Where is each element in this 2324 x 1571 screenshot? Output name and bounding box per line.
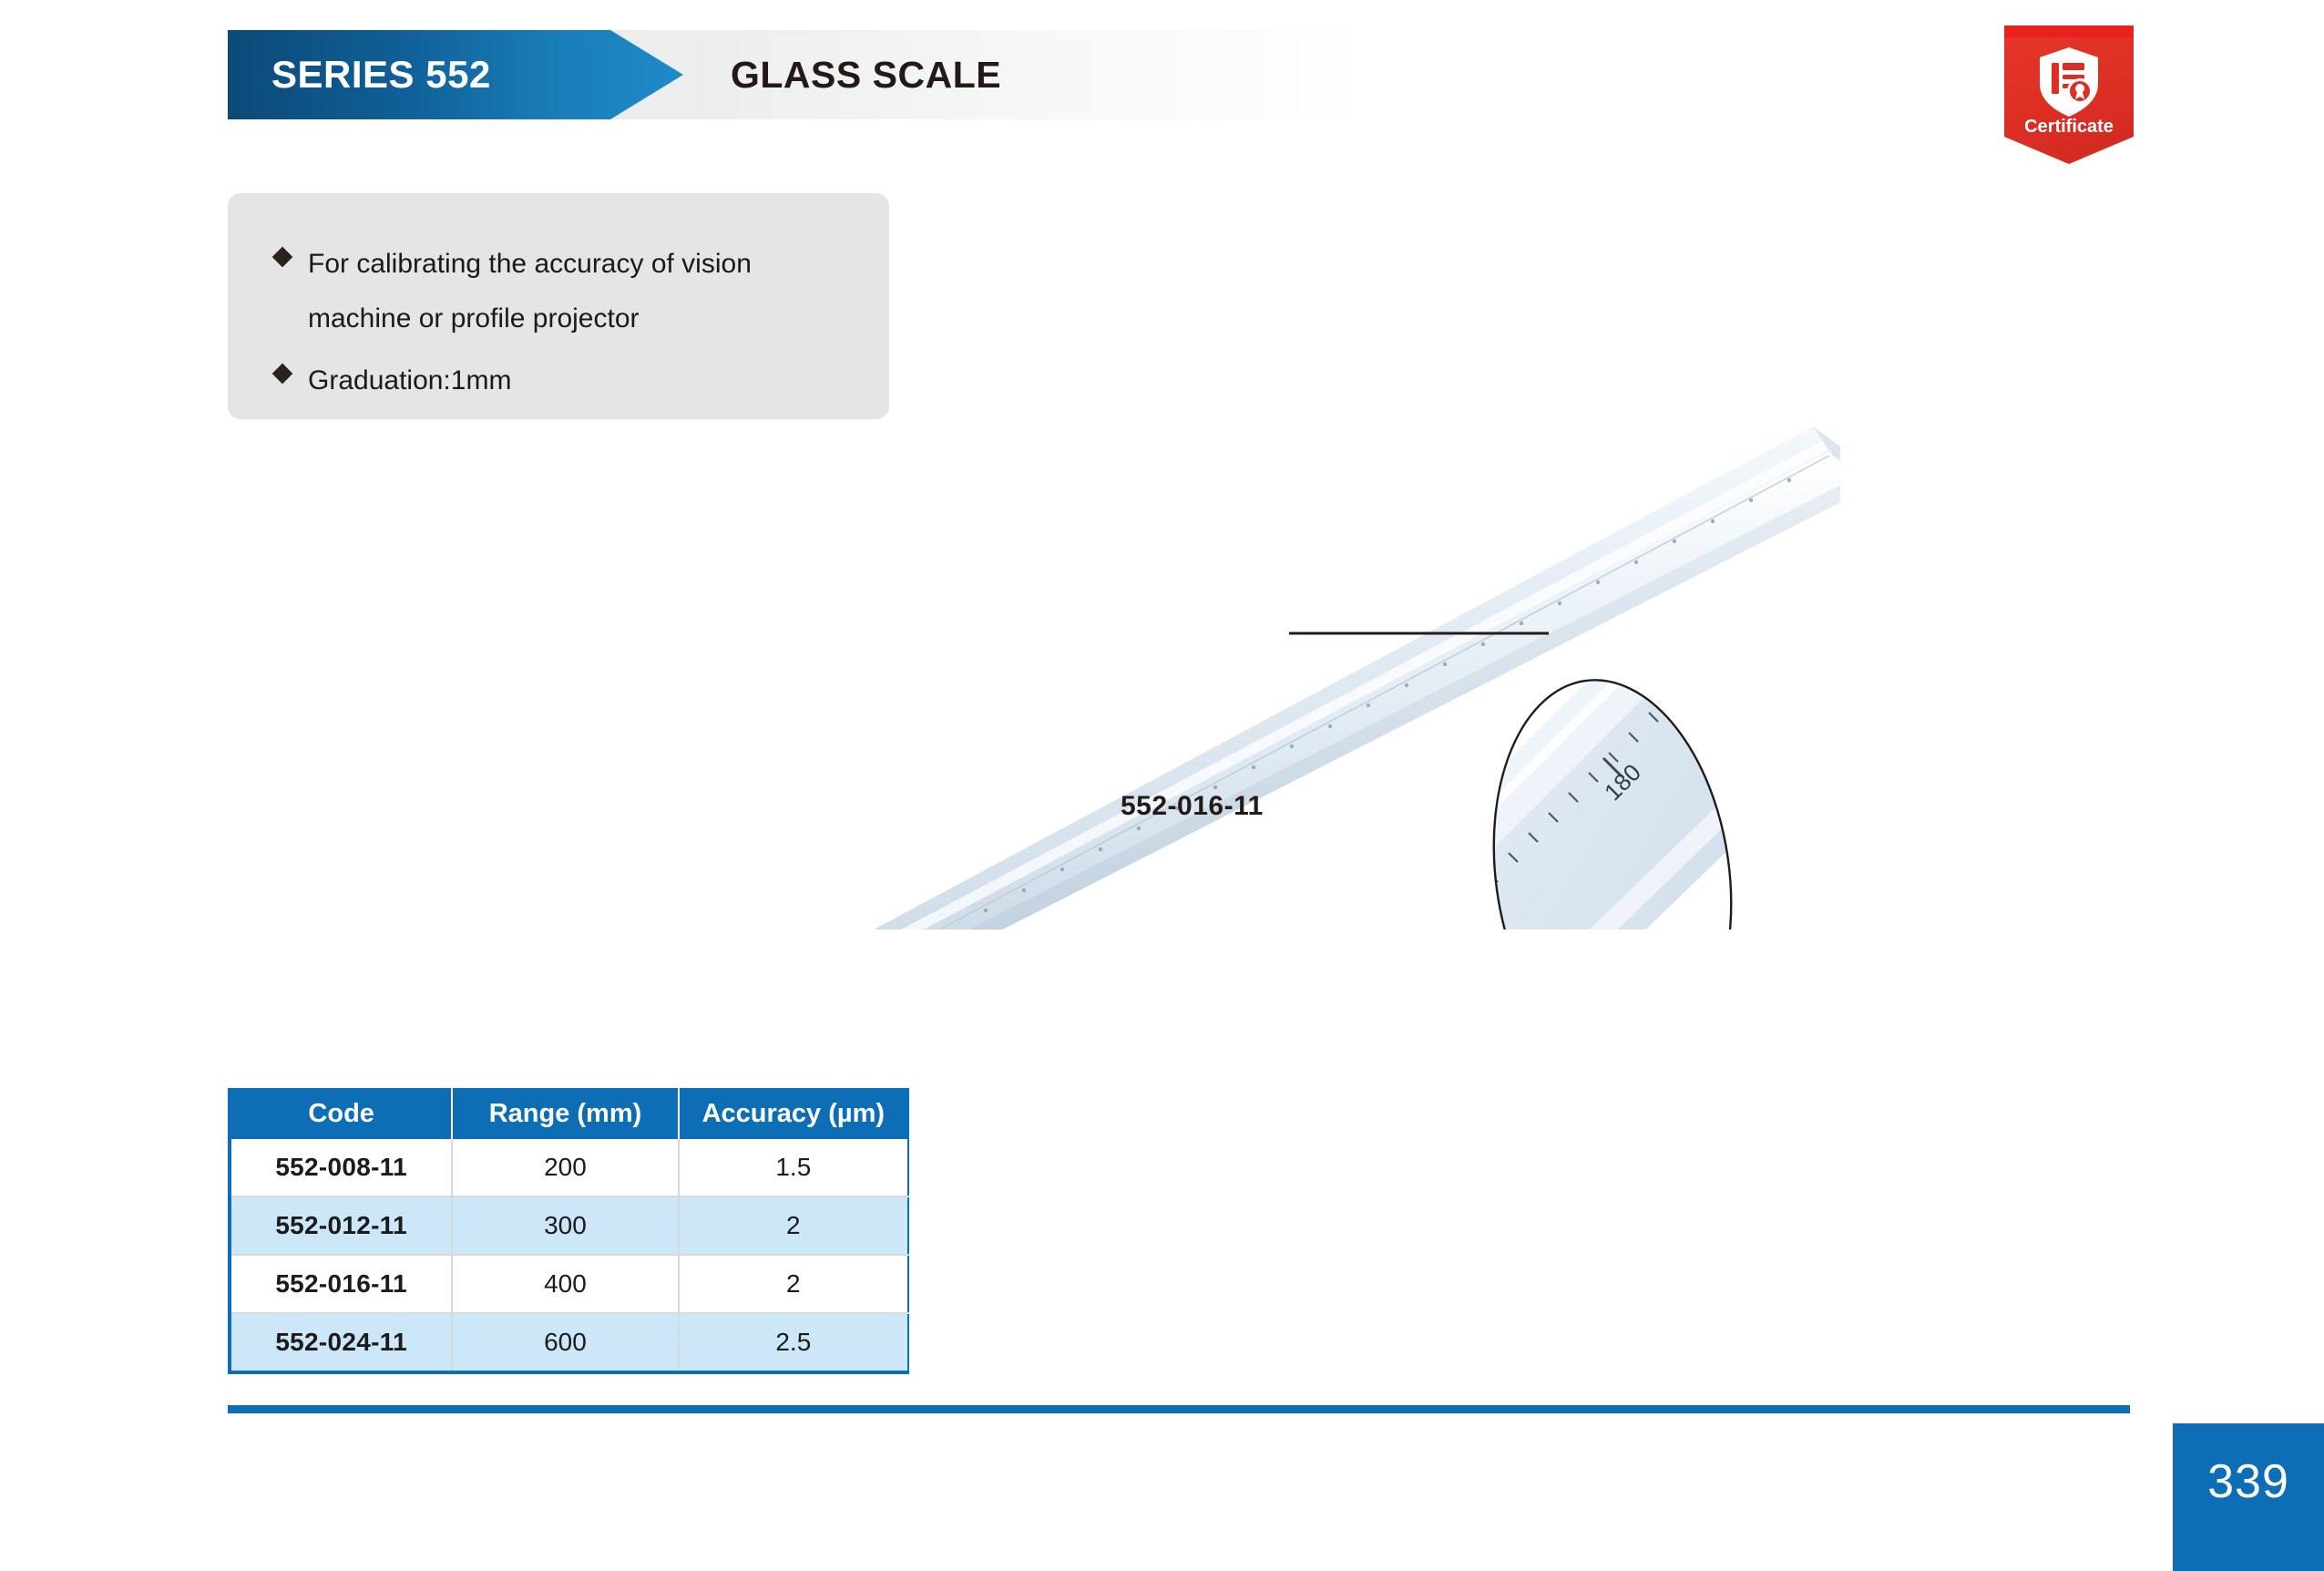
cell-accuracy: 1.5 [679, 1139, 908, 1196]
cell-code: 552-008-11 [230, 1139, 452, 1196]
list-item: For calibrating the accuracy of vision m… [275, 237, 864, 346]
table-header-row: Code Range (mm) Accuracy (µm) [230, 1088, 908, 1139]
series-label: SERIES 552 [228, 53, 491, 97]
page-title: GLASS SCALE [731, 30, 1001, 119]
diamond-bullet-icon [272, 364, 293, 385]
spec-table-container: Code Range (mm) Accuracy (µm) 552-008-11… [228, 1088, 909, 1374]
cell-range: 600 [452, 1313, 678, 1372]
column-header-code: Code [230, 1088, 452, 1139]
glass-scale-ruler-image: 170 180 190 [820, 419, 1840, 929]
cell-accuracy: 2.5 [679, 1313, 908, 1372]
cell-range: 400 [452, 1255, 678, 1313]
cell-code: 552-024-11 [230, 1313, 452, 1372]
features-panel: For calibrating the accuracy of vision m… [228, 193, 889, 419]
features-list: For calibrating the accuracy of vision m… [275, 237, 864, 416]
feature-text: For calibrating the accuracy of vision m… [308, 237, 818, 346]
cell-code: 552-016-11 [230, 1255, 452, 1313]
page-number-badge: 339 [2173, 1423, 2324, 1571]
product-illustration: 170 180 190 [820, 419, 1840, 929]
certificate-badge-top-strip [2004, 26, 2134, 37]
cell-accuracy: 2 [679, 1196, 908, 1255]
diamond-bullet-icon [272, 247, 293, 268]
product-model-label: 552-016-11 [1121, 791, 1264, 822]
cell-accuracy: 2 [679, 1255, 908, 1313]
page-header: SERIES 552 GLASS SCALE [228, 30, 1368, 119]
feature-text: Graduation:1mm [308, 354, 511, 408]
certificate-badge: Certificate [2004, 26, 2134, 164]
table-row: 552-008-11 200 1.5 [230, 1139, 908, 1196]
callout-tick-label: 170 [1457, 900, 1504, 929]
footer-divider [228, 1405, 2130, 1413]
certificate-shield-icon [2034, 46, 2104, 118]
table-row: 552-024-11 600 2.5 [230, 1313, 908, 1372]
page-number: 339 [2173, 1454, 2324, 1509]
table-row: 552-012-11 300 2 [230, 1196, 908, 1255]
callout-tick-label: 190 [1721, 636, 1768, 683]
column-header-accuracy: Accuracy (µm) [679, 1088, 908, 1139]
cell-range: 200 [452, 1139, 678, 1196]
cell-code: 552-012-11 [230, 1196, 452, 1255]
cell-range: 300 [452, 1196, 678, 1255]
table-row: 552-016-11 400 2 [230, 1255, 908, 1313]
column-header-range: Range (mm) [452, 1088, 678, 1139]
certificate-badge-label: Certificate [2004, 117, 2134, 138]
list-item: Graduation:1mm [275, 354, 864, 408]
series-banner: SERIES 552 [228, 30, 683, 119]
spec-table: Code Range (mm) Accuracy (µm) 552-008-11… [228, 1088, 909, 1374]
